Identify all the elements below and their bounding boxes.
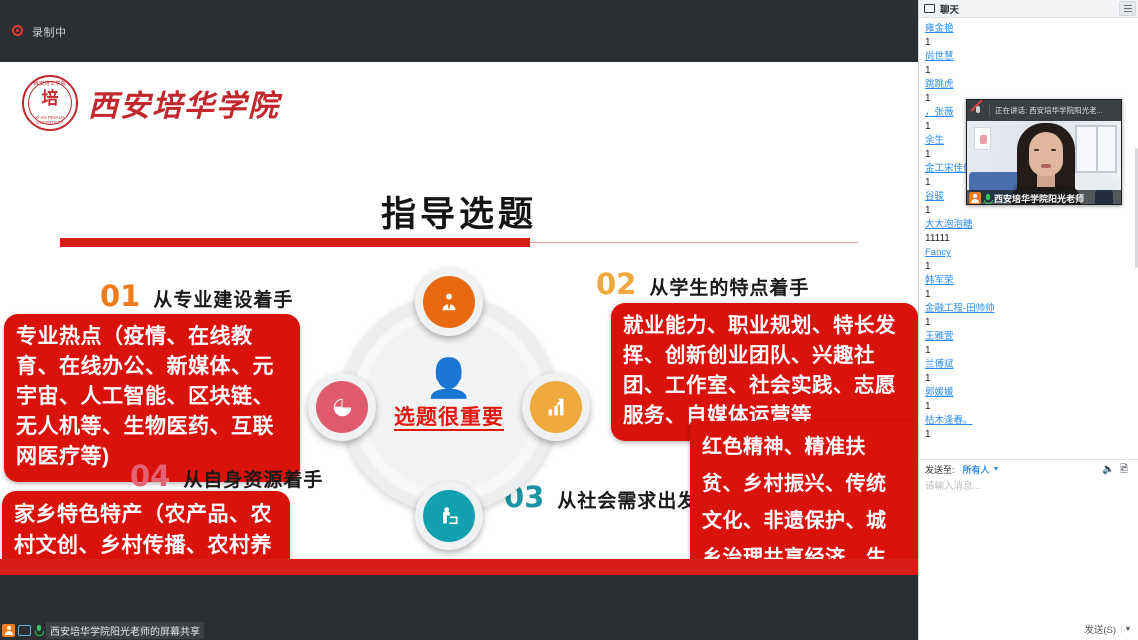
meeting-screen: 录制中 西安培华学院 培 XI'AN PEIHUA UNIVERSITY 西安培…: [0, 0, 1138, 640]
presentation-slide: 西安培华学院 培 XI'AN PEIHUA UNIVERSITY 西安培华学院 …: [0, 62, 918, 575]
chat-message: 郭媛媛1: [925, 386, 1138, 414]
send-to-dropdown[interactable]: 所有人: [963, 463, 990, 476]
chat-title: 聊天: [940, 2, 959, 16]
shared-screen-area: 录制中 西安培华学院 培 XI'AN PEIHUA UNIVERSITY 西安培…: [0, 0, 918, 640]
video-feed: 西安培华学院阳光老师: [967, 121, 1121, 205]
chat-divider: [919, 459, 1138, 460]
image-icon[interactable]: 🖻: [1120, 464, 1132, 475]
chat-text: 1: [925, 372, 1138, 386]
diagram-node-right: [522, 373, 590, 441]
recording-bar: 录制中: [0, 0, 918, 62]
chat-sender[interactable]: 跳跳虎: [925, 78, 1138, 92]
video-thumbnail-header: 正在讲话: 西安培华学院阳光老...: [967, 100, 1121, 121]
chat-message: 金融工程-田帅帅1: [925, 302, 1138, 330]
mic-on-icon: [983, 192, 992, 204]
window-shape: [1075, 125, 1117, 173]
university-name: 西安培华学院: [88, 81, 280, 125]
section-number-02: 02: [596, 267, 636, 301]
chat-text: 1: [925, 204, 1138, 218]
chat-message: 王雅萱1: [925, 330, 1138, 358]
chat-message: 雍金艳1: [925, 22, 1138, 50]
section-header-04: 04 从自身资源着手: [130, 459, 323, 493]
screen-share-icon: [18, 625, 31, 636]
send-to-label: 发送至:: [925, 463, 955, 476]
university-seal-icon: 西安培华学院 培 XI'AN PEIHUA UNIVERSITY: [22, 75, 78, 131]
chat-panel: 聊天 雍金艳1 尚世慧1 跳跳虎1 ，张薇1 余生1 金工宋佳伟1 谷骏1 大大…: [918, 0, 1138, 640]
bar-chart-up-icon: [530, 381, 582, 433]
chat-text: 1: [925, 316, 1138, 330]
seal-arc-bottom-text: XI'AN PEIHUA UNIVERSITY: [24, 115, 76, 125]
video-thumbnail[interactable]: 正在讲话: 西安培华学院阳光老... 西安培华学院阳光老师: [966, 99, 1122, 205]
mic-muted-icon: [971, 104, 984, 117]
diagram-node-left: [308, 373, 376, 441]
section-body-03: 红色精神、精准扶贫、乡村振兴、传统文化、非遗保护、城乡治理共享经济、生态环境等: [690, 421, 918, 575]
speaker-name: 西安培华学院阳光老师: [994, 192, 1084, 205]
divider: [989, 104, 990, 117]
diagram-node-bottom: [415, 482, 483, 550]
section-number-01: 01: [100, 279, 140, 313]
section-body-01: 专业热点（疫情、在线教育、在线办公、新媒体、元宇宙、人工智能、区块链、无人机等、…: [4, 314, 300, 482]
mouth-shape: [1041, 164, 1051, 168]
section-title-01: 从专业建设着手: [153, 285, 293, 312]
screen-share-label: 西安培华学院阳光老师的屏幕共享: [46, 622, 204, 639]
title-rule-thick: [60, 238, 530, 247]
chat-text: 1: [925, 400, 1138, 414]
hamburger-menu-icon[interactable]: [1119, 1, 1136, 16]
seal-center-text: 培: [24, 91, 76, 108]
chat-text: 11111: [925, 232, 1138, 246]
participant-avatar-icon: [2, 624, 15, 637]
chat-text: 1: [925, 428, 1138, 442]
chevron-down-icon[interactable]: ▼: [993, 466, 1000, 473]
chat-bubble-icon: [924, 4, 935, 13]
send-button[interactable]: 发送(S): [1079, 620, 1121, 638]
chat-text: 1: [925, 344, 1138, 358]
speaking-label: 正在讲话: 西安培华学院阳光老...: [995, 105, 1103, 116]
chat-sender[interactable]: 兰傅斌: [925, 358, 1138, 372]
chat-sender[interactable]: 韩军荣: [925, 274, 1138, 288]
section-header-02: 02 从学生的特点着手: [596, 267, 809, 301]
chat-message: 兰傅斌1: [925, 358, 1138, 386]
chat-message: 韩军荣1: [925, 274, 1138, 302]
section-title-04: 从自身资源着手: [183, 465, 323, 492]
send-to-row: 发送至: 所有人 ▼ 🔈 🖻: [919, 461, 1138, 478]
speaker-icon[interactable]: 🔈: [1102, 464, 1114, 475]
participant-avatar-icon: [969, 192, 981, 204]
chat-sender[interactable]: Fancy: [925, 246, 1138, 260]
chat-message: Fancy1: [925, 246, 1138, 274]
chat-input[interactable]: [925, 478, 1132, 618]
recording-label: 录制中: [32, 24, 67, 40]
section-number-04: 04: [130, 459, 170, 493]
page-title: 指导选题: [0, 186, 918, 237]
chat-message: 尚世慧1: [925, 50, 1138, 78]
chat-sender[interactable]: 尚世慧: [925, 50, 1138, 64]
chat-sender[interactable]: 雍金艳: [925, 22, 1138, 36]
send-button-group: 发送(S) ▼: [1079, 620, 1134, 638]
diagram-node-top: [415, 268, 483, 336]
chat-header: 聊天: [919, 0, 1138, 18]
slide-accent-bar: [0, 559, 918, 575]
chat-text: 1: [925, 36, 1138, 50]
chat-message: 枯木逢春。1: [925, 414, 1138, 442]
person-tie-icon: [423, 276, 475, 328]
chat-text: 1: [925, 64, 1138, 78]
chat-text: 1: [925, 260, 1138, 274]
chat-sender[interactable]: 大大泡泡糖: [925, 218, 1138, 232]
circular-diagram: 👤 选题很重要: [318, 265, 580, 567]
section-title-02: 从学生的特点着手: [649, 273, 809, 300]
chat-message-list[interactable]: 雍金艳1 尚世慧1 跳跳虎1 ，张薇1 余生1 金工宋佳伟1 谷骏1 大大泡泡糖…: [919, 19, 1138, 459]
wall-picture-shape: [974, 127, 991, 150]
chat-sender[interactable]: 郭媛媛: [925, 386, 1138, 400]
section-header-01: 01 从专业建设着手: [100, 279, 293, 313]
pie-chart-icon: [316, 381, 368, 433]
record-dot-icon: [12, 25, 23, 36]
person-reading-icon: [423, 490, 475, 542]
chevron-down-icon[interactable]: ▼: [1121, 626, 1134, 633]
eye-shape: [1051, 149, 1056, 151]
eye-shape: [1034, 149, 1039, 151]
seal-arc-top-text: 西安培华学院: [24, 80, 76, 87]
chat-text: 1: [925, 288, 1138, 302]
video-name-bar: 西安培华学院阳光老师: [967, 190, 1121, 205]
chat-message: 大大泡泡糖11111: [925, 218, 1138, 246]
university-logo: 西安培华学院 培 XI'AN PEIHUA UNIVERSITY 西安培华学院: [22, 75, 280, 131]
chat-sender[interactable]: 王雅萱: [925, 330, 1138, 344]
chat-sender[interactable]: 枯木逢春。: [925, 414, 1138, 428]
chat-sender[interactable]: 金融工程-田帅帅: [925, 302, 1138, 316]
mic-on-icon: [34, 624, 43, 636]
screen-share-status-bar: 西安培华学院阳光老师的屏幕共享: [0, 620, 918, 640]
speaker-face-shape: [1029, 132, 1063, 176]
